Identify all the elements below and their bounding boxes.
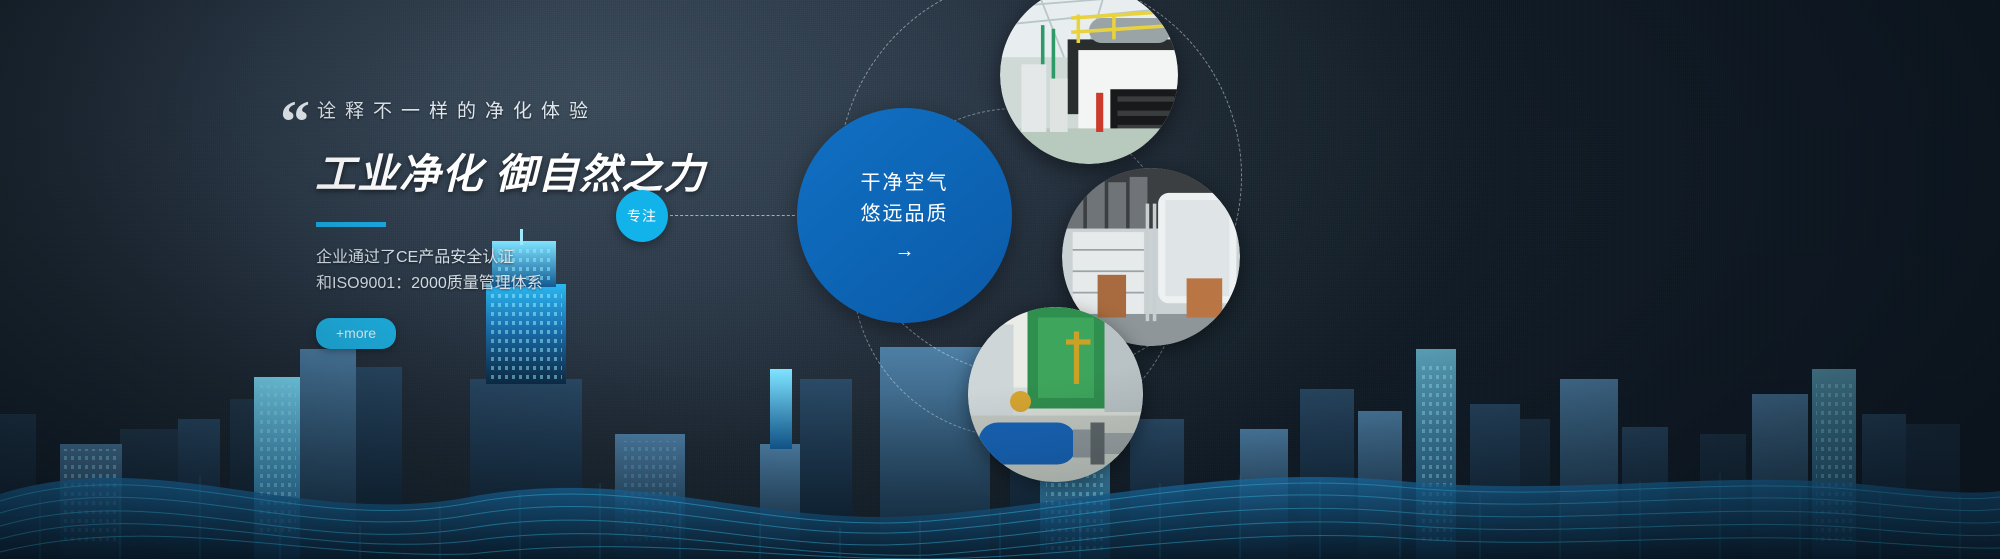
hero-circle[interactable]: 干净空气 悠远品质 → — [797, 108, 1012, 323]
more-button[interactable]: +more — [316, 318, 396, 349]
hero-eyebrow: 诠释不一样的净化体验 — [317, 96, 925, 123]
focus-badge-label: 专注 — [627, 206, 657, 226]
focus-badge[interactable]: 专注 — [616, 190, 668, 242]
arrow-right-icon: → — [895, 240, 915, 263]
hero-circle-line-2: 悠远品质 — [861, 199, 949, 230]
quote-mark-icon: “ — [280, 100, 308, 144]
connector-line — [670, 215, 800, 216]
hero-banner: “ 诠释不一样的净化体验 工业净化 御自然之力 企业通过了CE产品安全认证 和I… — [0, 0, 2000, 559]
accent-divider — [316, 222, 386, 227]
hero-circle-line-1: 干净空气 — [861, 168, 949, 199]
photo-pipeline-valves-equipment[interactable] — [968, 307, 1143, 482]
